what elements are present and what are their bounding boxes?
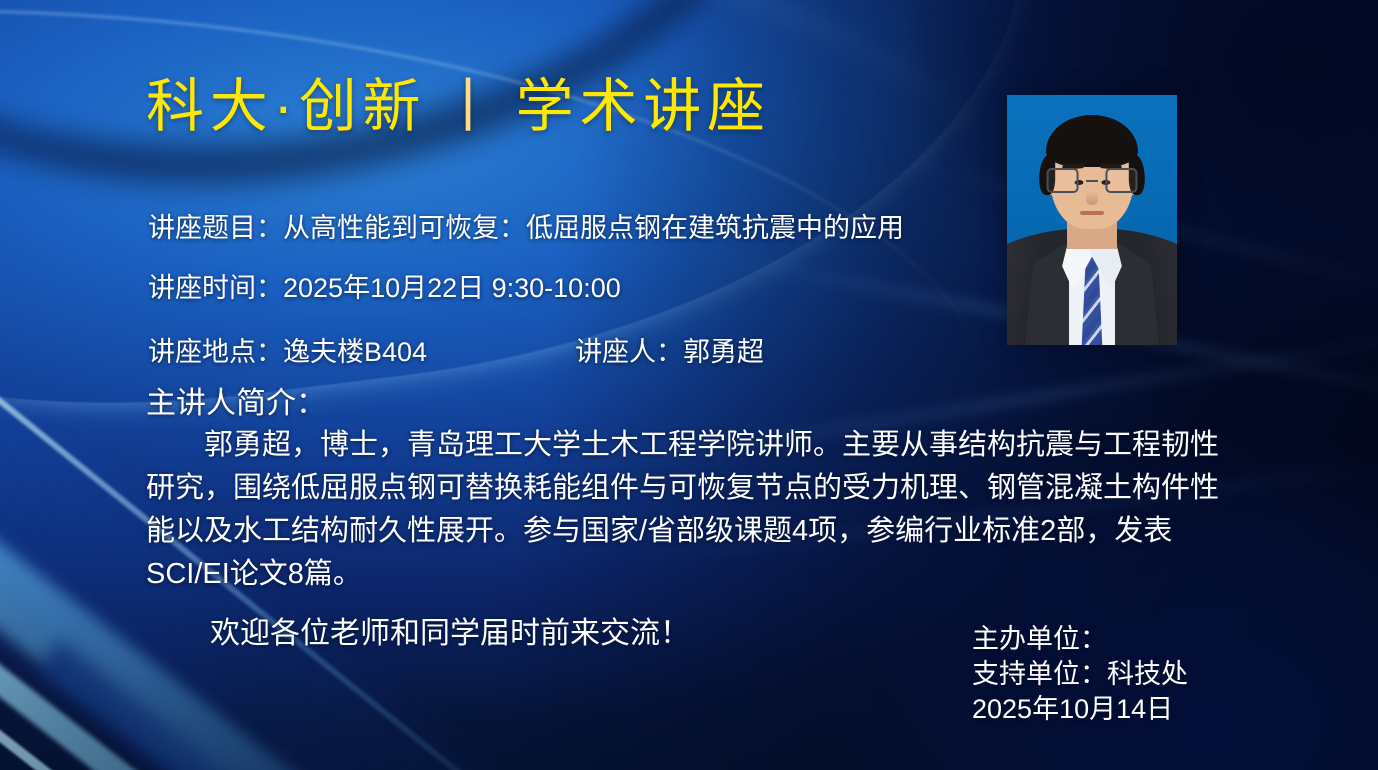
lecture-place-and-speaker: 讲座地点：逸夫楼B404讲座人：郭勇超: [148, 330, 764, 369]
speaker-bio-line: 能以及水工结构耐久性展开。参与国家/省部级课题4项，参编行业标准2部，发表: [146, 510, 1256, 553]
speaker-bio-line: 郭勇超，博士，青岛理工大学土木工程学院讲师。主要从事结构抗震与工程韧性: [146, 424, 1256, 467]
speaker-bio-line: SCI/EI论文8篇。: [146, 553, 1256, 596]
welcome-message: 欢迎各位老师和同学届时前来交流！: [210, 608, 690, 652]
organizer-support: 支持单位：科技处: [972, 657, 1188, 692]
poster-title-separator: 丨: [426, 74, 515, 139]
poster-title-left: 科大·创新: [146, 74, 426, 139]
lecture-poster: 科大·创新丨学术讲座 讲座题目：从高性能到可恢复：低屈服点钢在建筑抗震中的应用 …: [0, 0, 1378, 770]
organizer-date: 2025年10月14日: [972, 692, 1188, 727]
organizer-block: 主办单位： 支持单位：科技处 2025年10月14日: [972, 622, 1188, 727]
lecture-topic: 讲座题目：从高性能到可恢复：低屈服点钢在建筑抗震中的应用: [148, 206, 904, 245]
lecture-time: 讲座时间：2025年10月22日 9:30-10:00: [148, 266, 621, 305]
speaker-bio-line: 研究，围绕低屈服点钢可替换耗能组件与可恢复节点的受力机理、钢管混凝土构件性: [146, 467, 1256, 510]
lecture-place: 讲座地点：逸夫楼B404: [148, 337, 427, 367]
poster-title-right: 学术讲座: [516, 74, 771, 139]
speaker-bio-body: 郭勇超，博士，青岛理工大学土木工程学院讲师。主要从事结构抗震与工程韧性 研究，围…: [146, 424, 1256, 596]
speaker-bio-heading: 主讲人简介：: [146, 378, 326, 422]
organizer-host: 主办单位：: [972, 622, 1188, 657]
lecture-speaker: 讲座人：郭勇超: [575, 337, 764, 367]
poster-title: 科大·创新丨学术讲座: [146, 78, 771, 136]
